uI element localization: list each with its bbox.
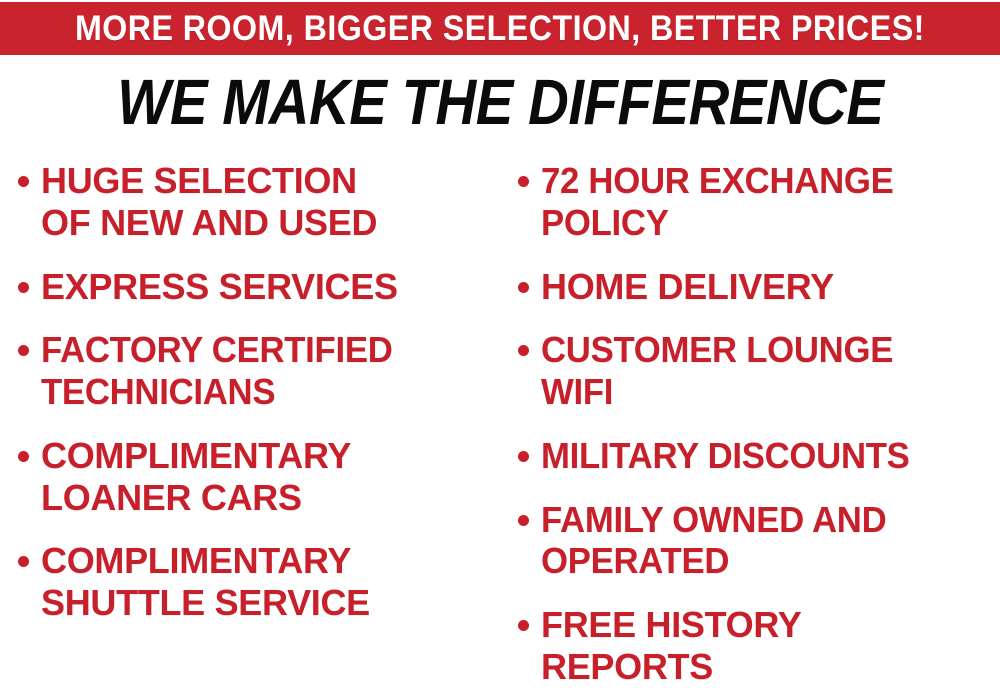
bullet-dot-icon bbox=[518, 515, 529, 526]
list-item: HOME DELIVERY bbox=[518, 266, 1000, 308]
bullet-dot-icon bbox=[18, 176, 29, 187]
bullet-dot-icon bbox=[518, 345, 529, 356]
list-item: FAMILY OWNED AND OPERATED bbox=[518, 499, 1000, 583]
list-item-label: CUSTOMER LOUNGE WIFI bbox=[541, 329, 893, 413]
bullet-dot-icon bbox=[18, 282, 29, 293]
bullet-dot-icon bbox=[518, 282, 529, 293]
list-item-label: 72 HOUR EXCHANGE POLICY bbox=[541, 160, 893, 244]
list-item-label: HUGE SELECTION OF NEW AND USED bbox=[41, 160, 377, 244]
list-item-label: EXPRESS SERVICES bbox=[41, 266, 398, 308]
bullet-dot-icon bbox=[18, 556, 29, 567]
list-item: FREE HISTORY REPORTS bbox=[518, 604, 1000, 688]
list-item-label: MILITARY DISCOUNTS bbox=[541, 435, 910, 477]
header-banner-bar: MORE ROOM, BIGGER SELECTION, BETTER PRIC… bbox=[0, 2, 1000, 55]
promotional-banner: MORE ROOM, BIGGER SELECTION, BETTER PRIC… bbox=[0, 0, 1000, 694]
header-banner-text: MORE ROOM, BIGGER SELECTION, BETTER PRIC… bbox=[75, 11, 925, 46]
list-item-label: FACTORY CERTIFIED TECHNICIANS bbox=[41, 329, 393, 413]
feature-column-left: HUGE SELECTION OF NEW AND USED EXPRESS S… bbox=[18, 160, 510, 646]
bullet-dot-icon bbox=[518, 620, 529, 631]
headline-container: WE MAKE THE DIFFERENCE bbox=[0, 66, 1000, 138]
bullet-dot-icon bbox=[18, 451, 29, 462]
list-item: FACTORY CERTIFIED TECHNICIANS bbox=[18, 329, 510, 413]
bullet-dot-icon bbox=[518, 176, 529, 187]
list-item-label: HOME DELIVERY bbox=[541, 266, 834, 308]
list-item-label: COMPLIMENTARY SHUTTLE SERVICE bbox=[41, 540, 370, 624]
list-item: COMPLIMENTARY LOANER CARS bbox=[18, 435, 510, 519]
list-item-label: FREE HISTORY REPORTS bbox=[541, 604, 801, 688]
list-item: EXPRESS SERVICES bbox=[18, 266, 510, 308]
list-item: 72 HOUR EXCHANGE POLICY bbox=[518, 160, 1000, 244]
page-title: WE MAKE THE DIFFERENCE bbox=[117, 70, 883, 134]
list-item: MILITARY DISCOUNTS bbox=[518, 435, 1000, 477]
bullet-dot-icon bbox=[518, 451, 529, 462]
list-item-label: FAMILY OWNED AND OPERATED bbox=[541, 499, 886, 583]
list-item: CUSTOMER LOUNGE WIFI bbox=[518, 329, 1000, 413]
list-item: HUGE SELECTION OF NEW AND USED bbox=[18, 160, 510, 244]
bullet-dot-icon bbox=[18, 345, 29, 356]
feature-columns: HUGE SELECTION OF NEW AND USED EXPRESS S… bbox=[0, 160, 1000, 694]
feature-column-right: 72 HOUR EXCHANGE POLICY HOME DELIVERY CU… bbox=[518, 160, 1000, 694]
list-item: COMPLIMENTARY SHUTTLE SERVICE bbox=[18, 540, 510, 624]
list-item-label: COMPLIMENTARY LOANER CARS bbox=[41, 435, 351, 519]
